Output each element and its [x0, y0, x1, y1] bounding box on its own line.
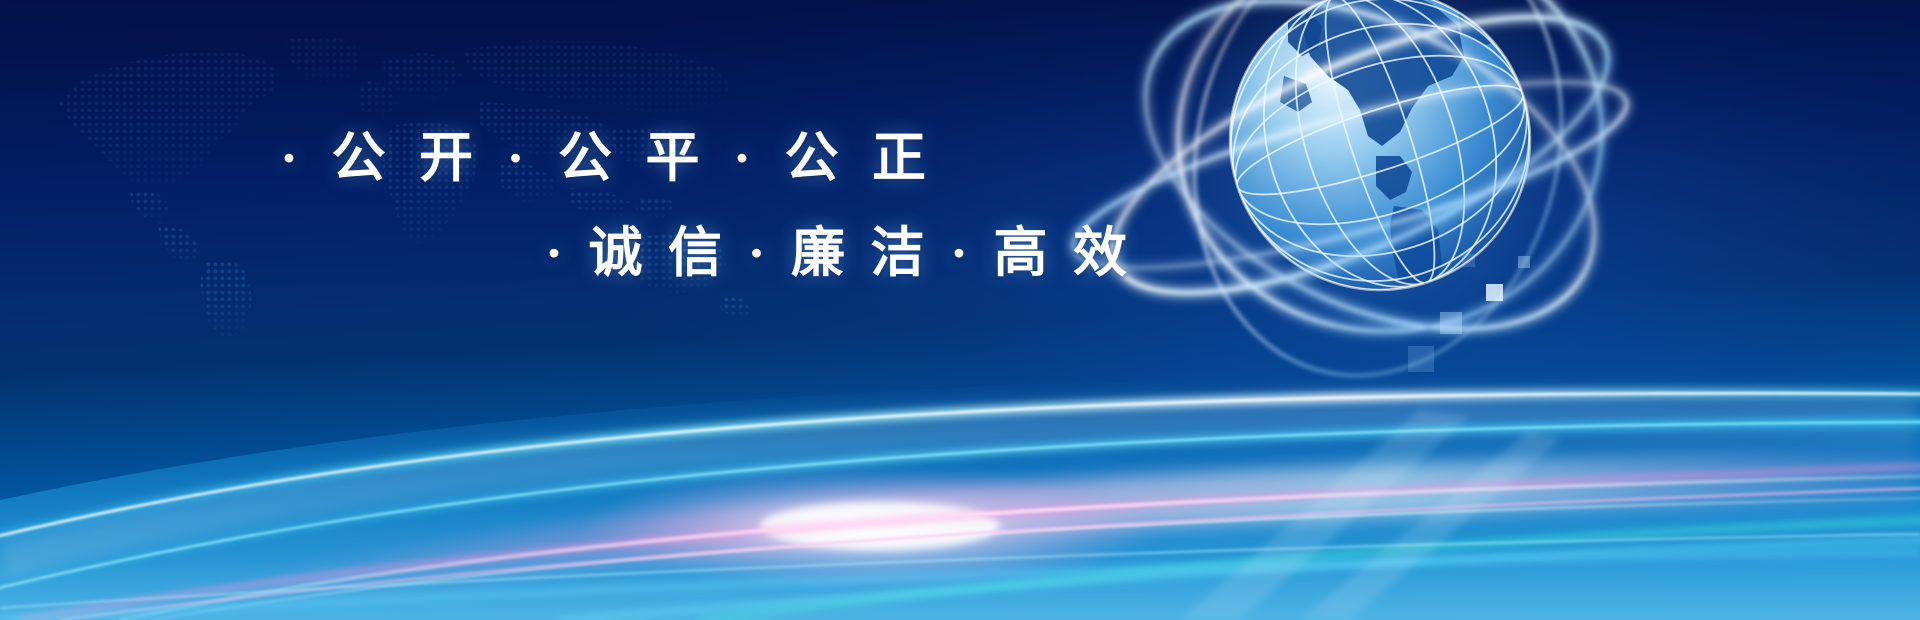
mosaic-squares: [1400, 250, 1600, 380]
slogan-line-2: · 诚 信 · 廉 洁 · 高 效: [0, 225, 1160, 282]
light-wave-graphic: [0, 290, 1920, 620]
slogan-line-1: · 公 开 · 公 平 · 公 正: [0, 130, 1160, 187]
slogan-block: · 公 开 · 公 平 · 公 正 · 诚 信 · 廉 洁 · 高 效: [0, 130, 1160, 281]
banner-root: · 公 开 · 公 平 · 公 正 · 诚 信 · 廉 洁 · 高 效: [0, 0, 1920, 620]
bottom-fade: [0, 560, 1920, 620]
